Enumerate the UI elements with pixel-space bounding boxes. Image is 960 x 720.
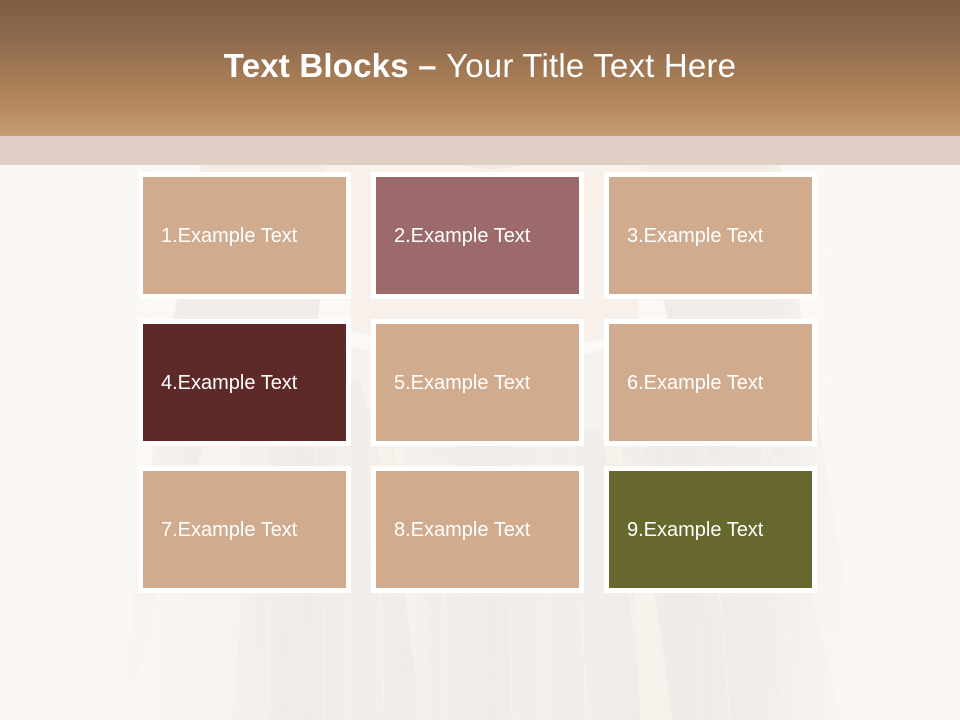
text-block-label: 5.Example Text <box>394 371 530 395</box>
text-block-5[interactable]: 5.Example Text <box>371 319 584 446</box>
page-title: Text Blocks – Your Title Text Here <box>224 46 736 90</box>
header-accent-band <box>0 136 960 165</box>
text-block-4[interactable]: 4.Example Text <box>138 319 351 446</box>
text-block-label: 7.Example Text <box>161 518 297 542</box>
page-title-regular: Your Title Text Here <box>446 47 736 84</box>
text-blocks-grid: 1.Example Text 2.Example Text 3.Example … <box>138 172 818 593</box>
text-block-2[interactable]: 2.Example Text <box>371 172 584 299</box>
text-block-label: 3.Example Text <box>627 224 763 248</box>
text-block-label: 6.Example Text <box>627 371 763 395</box>
text-block-label: 9.Example Text <box>627 518 763 542</box>
slide-canvas: Text Blocks – Your Title Text Here 1.Exa… <box>0 0 960 720</box>
text-block-6[interactable]: 6.Example Text <box>604 319 817 446</box>
text-block-label: 1.Example Text <box>161 224 297 248</box>
page-title-dash: – <box>418 47 446 84</box>
text-block-1[interactable]: 1.Example Text <box>138 172 351 299</box>
text-block-label: 2.Example Text <box>394 224 530 248</box>
text-block-label: 8.Example Text <box>394 518 530 542</box>
text-block-7[interactable]: 7.Example Text <box>138 466 351 593</box>
text-block-8[interactable]: 8.Example Text <box>371 466 584 593</box>
text-block-3[interactable]: 3.Example Text <box>604 172 817 299</box>
page-title-bold: Text Blocks <box>224 47 418 84</box>
slide-header: Text Blocks – Your Title Text Here <box>0 0 960 136</box>
text-block-9[interactable]: 9.Example Text <box>604 466 817 593</box>
text-block-label: 4.Example Text <box>161 371 297 395</box>
